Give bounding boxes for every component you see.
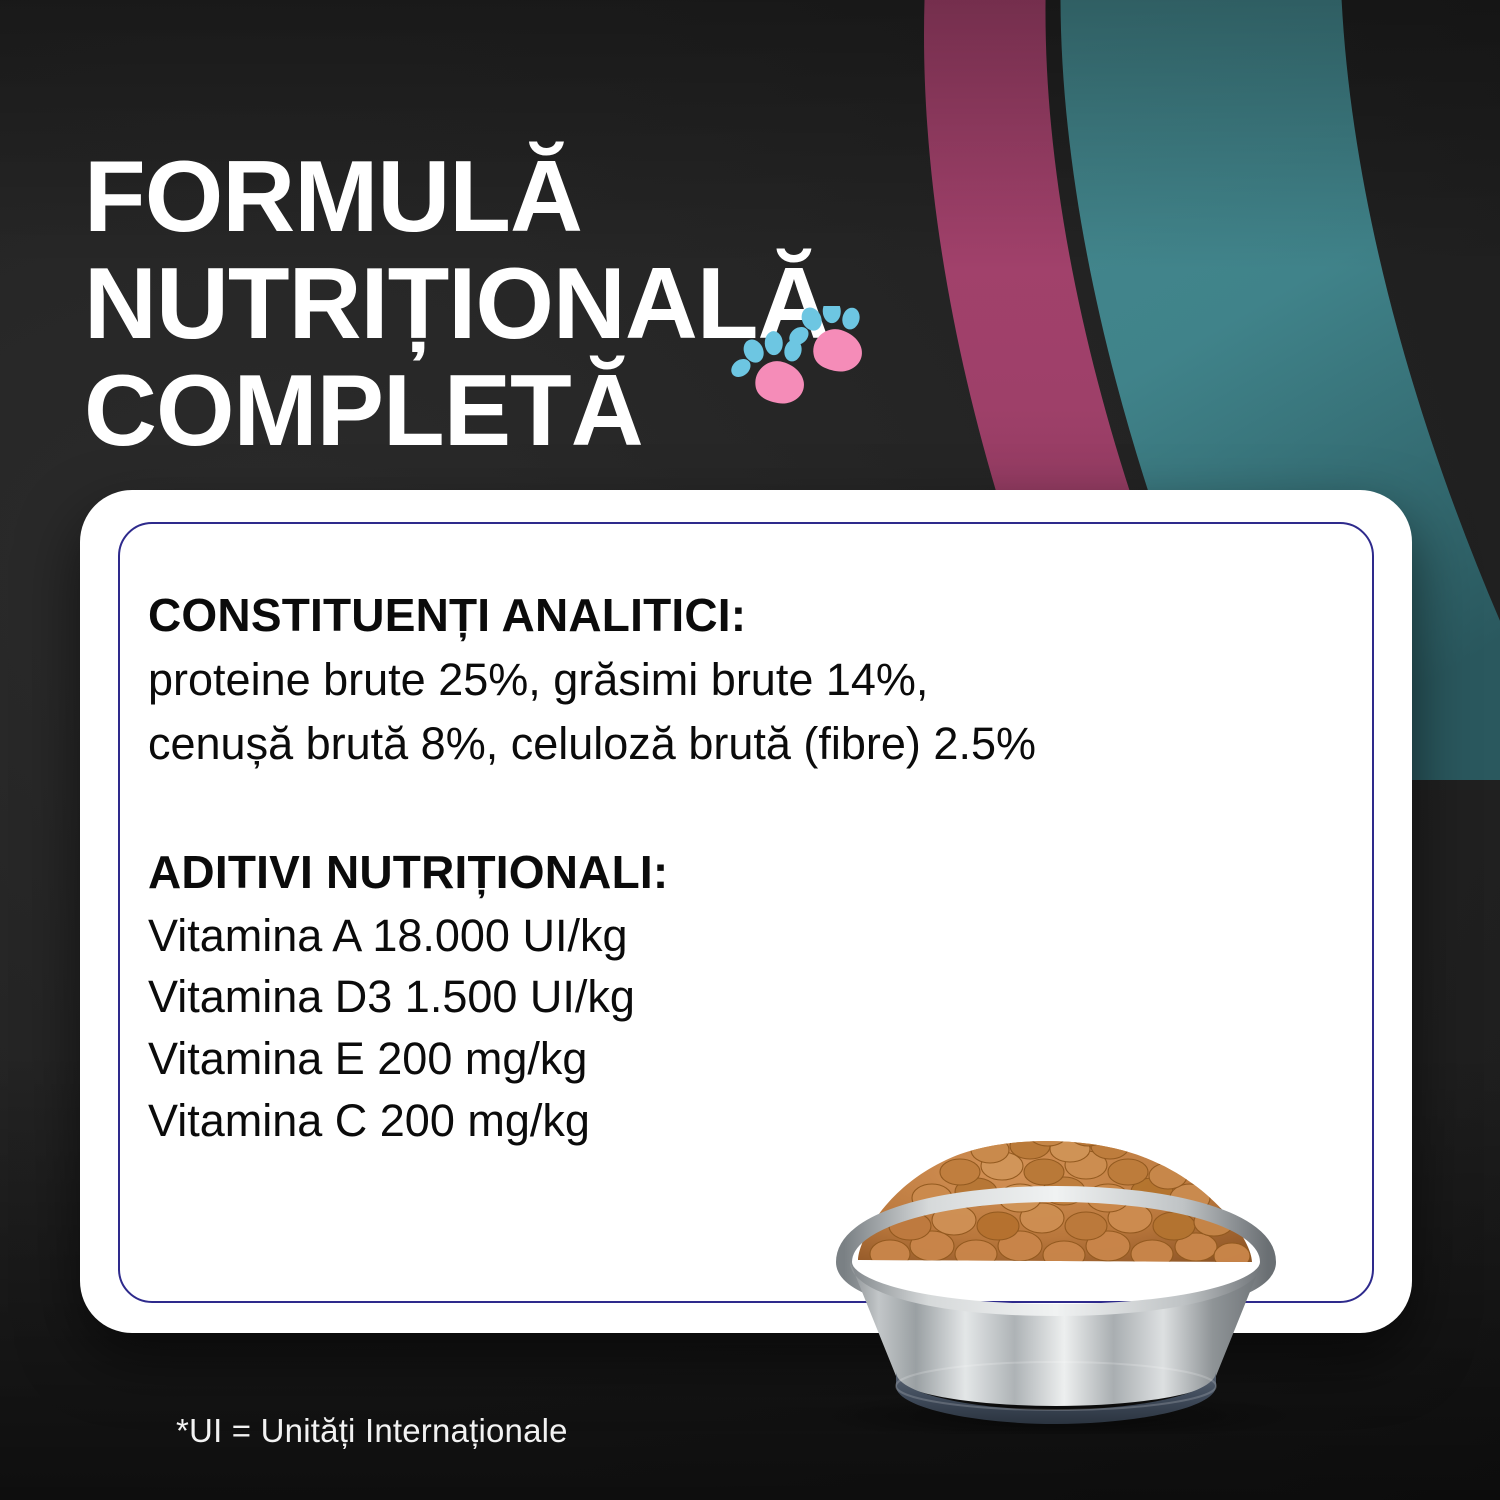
bowl-body: [850, 1262, 1262, 1406]
card-content: CONSTITUENȚI ANALITICI: proteine brute 2…: [148, 590, 1352, 1151]
additive-item-vitamin-d3: Vitamina D3 1.500 UI/kg: [148, 966, 1352, 1028]
dog-food-bowl: [786, 1094, 1326, 1434]
title-line-3: COMPLETĂ: [84, 358, 1084, 465]
page-title: FORMULĂ NUTRIȚIONALĂ COMPLETĂ: [84, 144, 1084, 465]
analytical-constituents-heading: CONSTITUENȚI ANALITICI:: [148, 590, 1352, 642]
additive-item-vitamin-e: Vitamina E 200 mg/kg: [148, 1028, 1352, 1090]
footnote-ui-definition: *UI = Unități Internaționale: [176, 1412, 568, 1450]
paw-print-icon: [781, 306, 870, 379]
poster-canvas: FORMULĂ NUTRIȚIONALĂ COMPLETĂ CONSTITUEN…: [0, 0, 1500, 1500]
nutritional-additives-heading: ADITIVI NUTRIȚIONALI:: [148, 847, 1352, 899]
analytical-constituents-line-1: proteine brute 25%, grăsimi brute 14%,: [148, 648, 1352, 713]
section-spacer: [148, 777, 1352, 847]
additive-item-vitamin-a: Vitamina A 18.000 UI/kg: [148, 905, 1352, 967]
analytical-constituents-line-2: cenușă brută 8%, celuloză brută (fibre) …: [148, 712, 1352, 777]
title-line-1: FORMULĂ: [84, 144, 1084, 251]
title-line-2: NUTRIȚIONALĂ: [84, 251, 1084, 358]
paw-prints-group: [722, 306, 882, 410]
